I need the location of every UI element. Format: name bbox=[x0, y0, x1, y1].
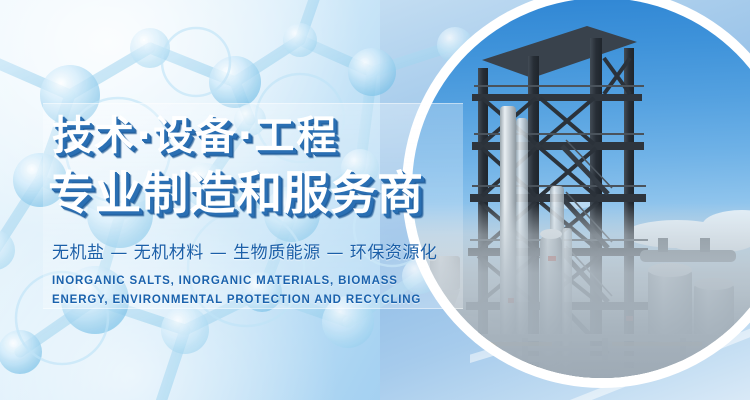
hero-banner: 技术·设备·工程 专业制造和服务商 无机盐 — 无机材料 — 生物质能源 — 环… bbox=[0, 0, 750, 400]
headline-line-1: 技术·设备·工程 bbox=[52, 116, 472, 156]
headline-line-2: 专业制造和服务商 bbox=[48, 170, 472, 216]
subtitle-chinese: 无机盐 — 无机材料 — 生物质能源 — 环保资源化 bbox=[52, 238, 472, 263]
subtitle-english: INORGANIC SALTS, INORGANIC MATERIALS, BI… bbox=[52, 272, 452, 310]
banner-text-block: 技术·设备·工程 专业制造和服务商 无机盐 — 无机材料 — 生物质能源 — 环… bbox=[52, 104, 472, 310]
